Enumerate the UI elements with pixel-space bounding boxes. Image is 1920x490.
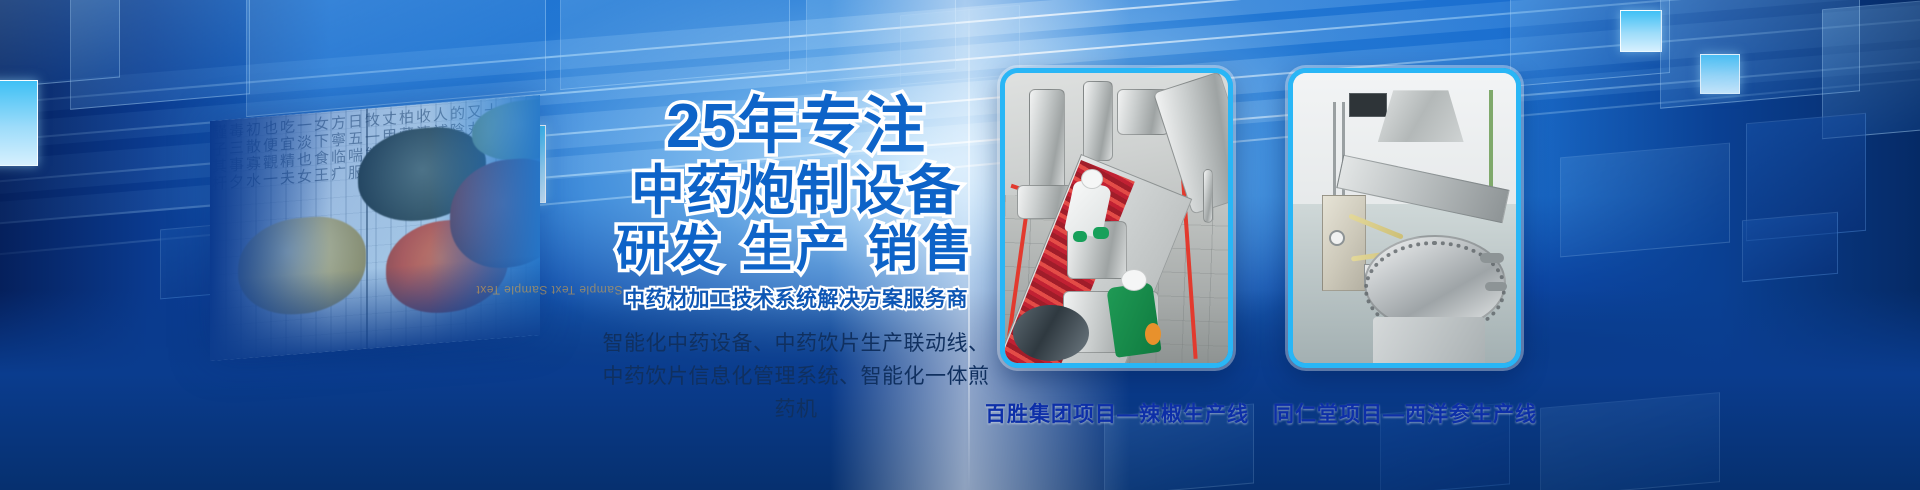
decor-chip [70,0,250,110]
side-valve-wheel [1485,282,1507,291]
banner-root: 騹毒初也吃一女方日牧丈柏收人的又十一君子三散便宜淡下寧五一甲藏清補陰丸止面沙其事… [0,0,1920,490]
worker-uniform [1106,282,1161,358]
large-duct-pipe [1013,305,1089,361]
photo-caption-ginseng: 同仁堂项目—西洋参生产线 [1255,398,1555,428]
decor-chip [1560,143,1730,258]
stainless-column-tank [1083,81,1113,161]
worker-cap [1081,169,1103,189]
worker-glove [1093,227,1109,239]
banner-description: 智能化中药设备、中药饮片生产联动线、中药饮片信息化管理系统、智能化一体煎药机 [596,327,996,426]
worker-glove [1145,323,1161,345]
ginseng-line-photo [1293,73,1516,363]
worker-glove [1073,231,1087,242]
vessel-body [1373,317,1485,367]
photo-caption-chili: 百胜集团项目—辣椒生产线 [967,398,1267,428]
control-panel [1322,195,1366,291]
decor-chip [900,5,1020,85]
headline-block: 25年专注 中药炮制设备 研发 生产 销售 中药材加工技术系统解决方案服务商 智… [596,96,996,426]
pressure-gauge [1329,230,1345,246]
headline-line-3: 研发 生产 销售 [596,224,996,274]
vertical-pipe [1489,90,1493,189]
photo-card-chili[interactable] [1000,68,1233,368]
worker-cap [1121,269,1147,291]
photo-card-ginseng[interactable] [1288,68,1521,368]
headline-subline: 中药材加工技术系统解决方案服务商 [596,283,996,313]
headline-line-1-text: 25年专注 [666,96,926,158]
decor-chip [1540,392,1720,490]
herb-collage-image: 騹毒初也吃一女方日牧丈柏收人的又十一君子三散便宜淡下寧五一甲藏清補陰丸止面沙其事… [210,95,540,361]
decor-chip-glow [0,80,38,166]
decor-chip [1742,212,1838,282]
stainless-column-tank [1029,89,1065,195]
headline-line-2: 中药炮制设备 [596,164,996,218]
wall-sign [1349,93,1387,117]
headline-line-1: 25年专注 [596,96,996,158]
headline-line-2-text: 中药炮制设备 [631,164,961,218]
decor-chip-glow [1620,10,1662,52]
chili-line-photo [1005,73,1228,363]
incline-conveyor-leg [1203,169,1213,223]
side-valve-wheel [1480,253,1504,263]
headline-line-3-text: 研发 生产 销售 [616,224,976,274]
